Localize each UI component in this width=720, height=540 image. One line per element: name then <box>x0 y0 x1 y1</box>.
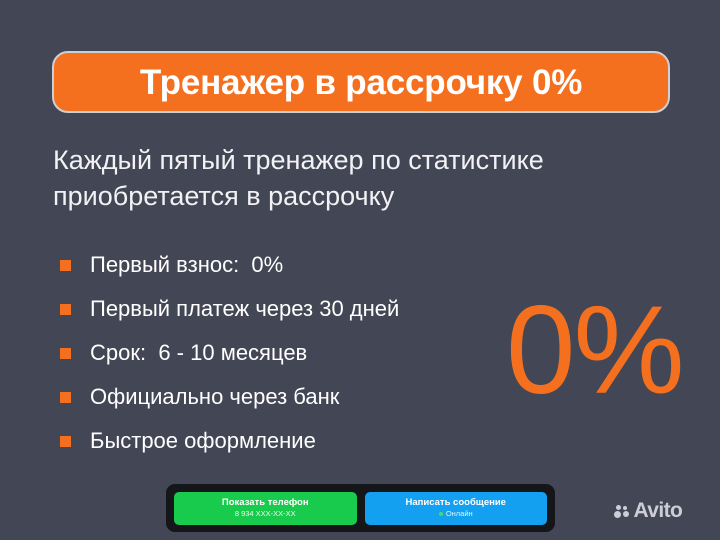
avito-dots-icon <box>614 503 630 519</box>
bullet-square-icon <box>60 392 71 403</box>
bullet-square-icon <box>60 348 71 359</box>
online-status-label: Онлайн <box>446 509 473 518</box>
list-item: Первый платеж через 30 дней <box>60 287 399 331</box>
show-phone-label: Показать телефон <box>222 498 309 509</box>
list-item: Быстрое оформление <box>60 419 399 463</box>
zero-percent-graphic: 0% <box>506 288 683 413</box>
online-status: Онлайн <box>439 509 473 518</box>
avito-watermark: Avito <box>614 500 682 521</box>
send-message-label: Написать сообщение <box>406 498 506 509</box>
avito-wordmark: Avito <box>634 500 683 521</box>
list-item: Первый взнос: 0% <box>60 243 399 287</box>
headline-banner: Тренажер в рассрочку 0% <box>52 51 670 113</box>
bullet-square-icon <box>60 304 71 315</box>
list-item: Срок: 6 - 10 месяцев <box>60 331 399 375</box>
list-item-label: Официально через банк <box>90 386 339 408</box>
subtitle-block: Каждый пятый тренажер по статистике прио… <box>53 143 678 214</box>
phone-number-text: 8 934 XXX-XX-XX <box>235 509 296 518</box>
bullet-square-icon <box>60 260 71 271</box>
list-item-label: Быстрое оформление <box>90 430 316 452</box>
bullet-square-icon <box>60 436 71 447</box>
list-item: Официально через банк <box>60 375 399 419</box>
headline-text: Тренажер в рассрочку 0% <box>140 65 582 100</box>
subtitle-line-2: приобретается в рассрочку <box>53 179 678 215</box>
action-bar: Показать телефон 8 934 XXX-XX-XX Написат… <box>166 484 555 532</box>
send-message-button[interactable]: Написать сообщение Онлайн <box>365 492 548 525</box>
list-item-label: Срок: 6 - 10 месяцев <box>90 342 307 364</box>
advertisement-card: Тренажер в рассрочку 0% Каждый пятый тре… <box>0 0 720 540</box>
list-item-label: Первый платеж через 30 дней <box>90 298 399 320</box>
show-phone-button[interactable]: Показать телефон 8 934 XXX-XX-XX <box>174 492 357 525</box>
online-dot-icon <box>439 512 443 516</box>
subtitle-line-1: Каждый пятый тренажер по статистике <box>53 143 678 179</box>
benefits-list: Первый взнос: 0% Первый платеж через 30 … <box>60 243 399 463</box>
list-item-label: Первый взнос: 0% <box>90 254 283 276</box>
